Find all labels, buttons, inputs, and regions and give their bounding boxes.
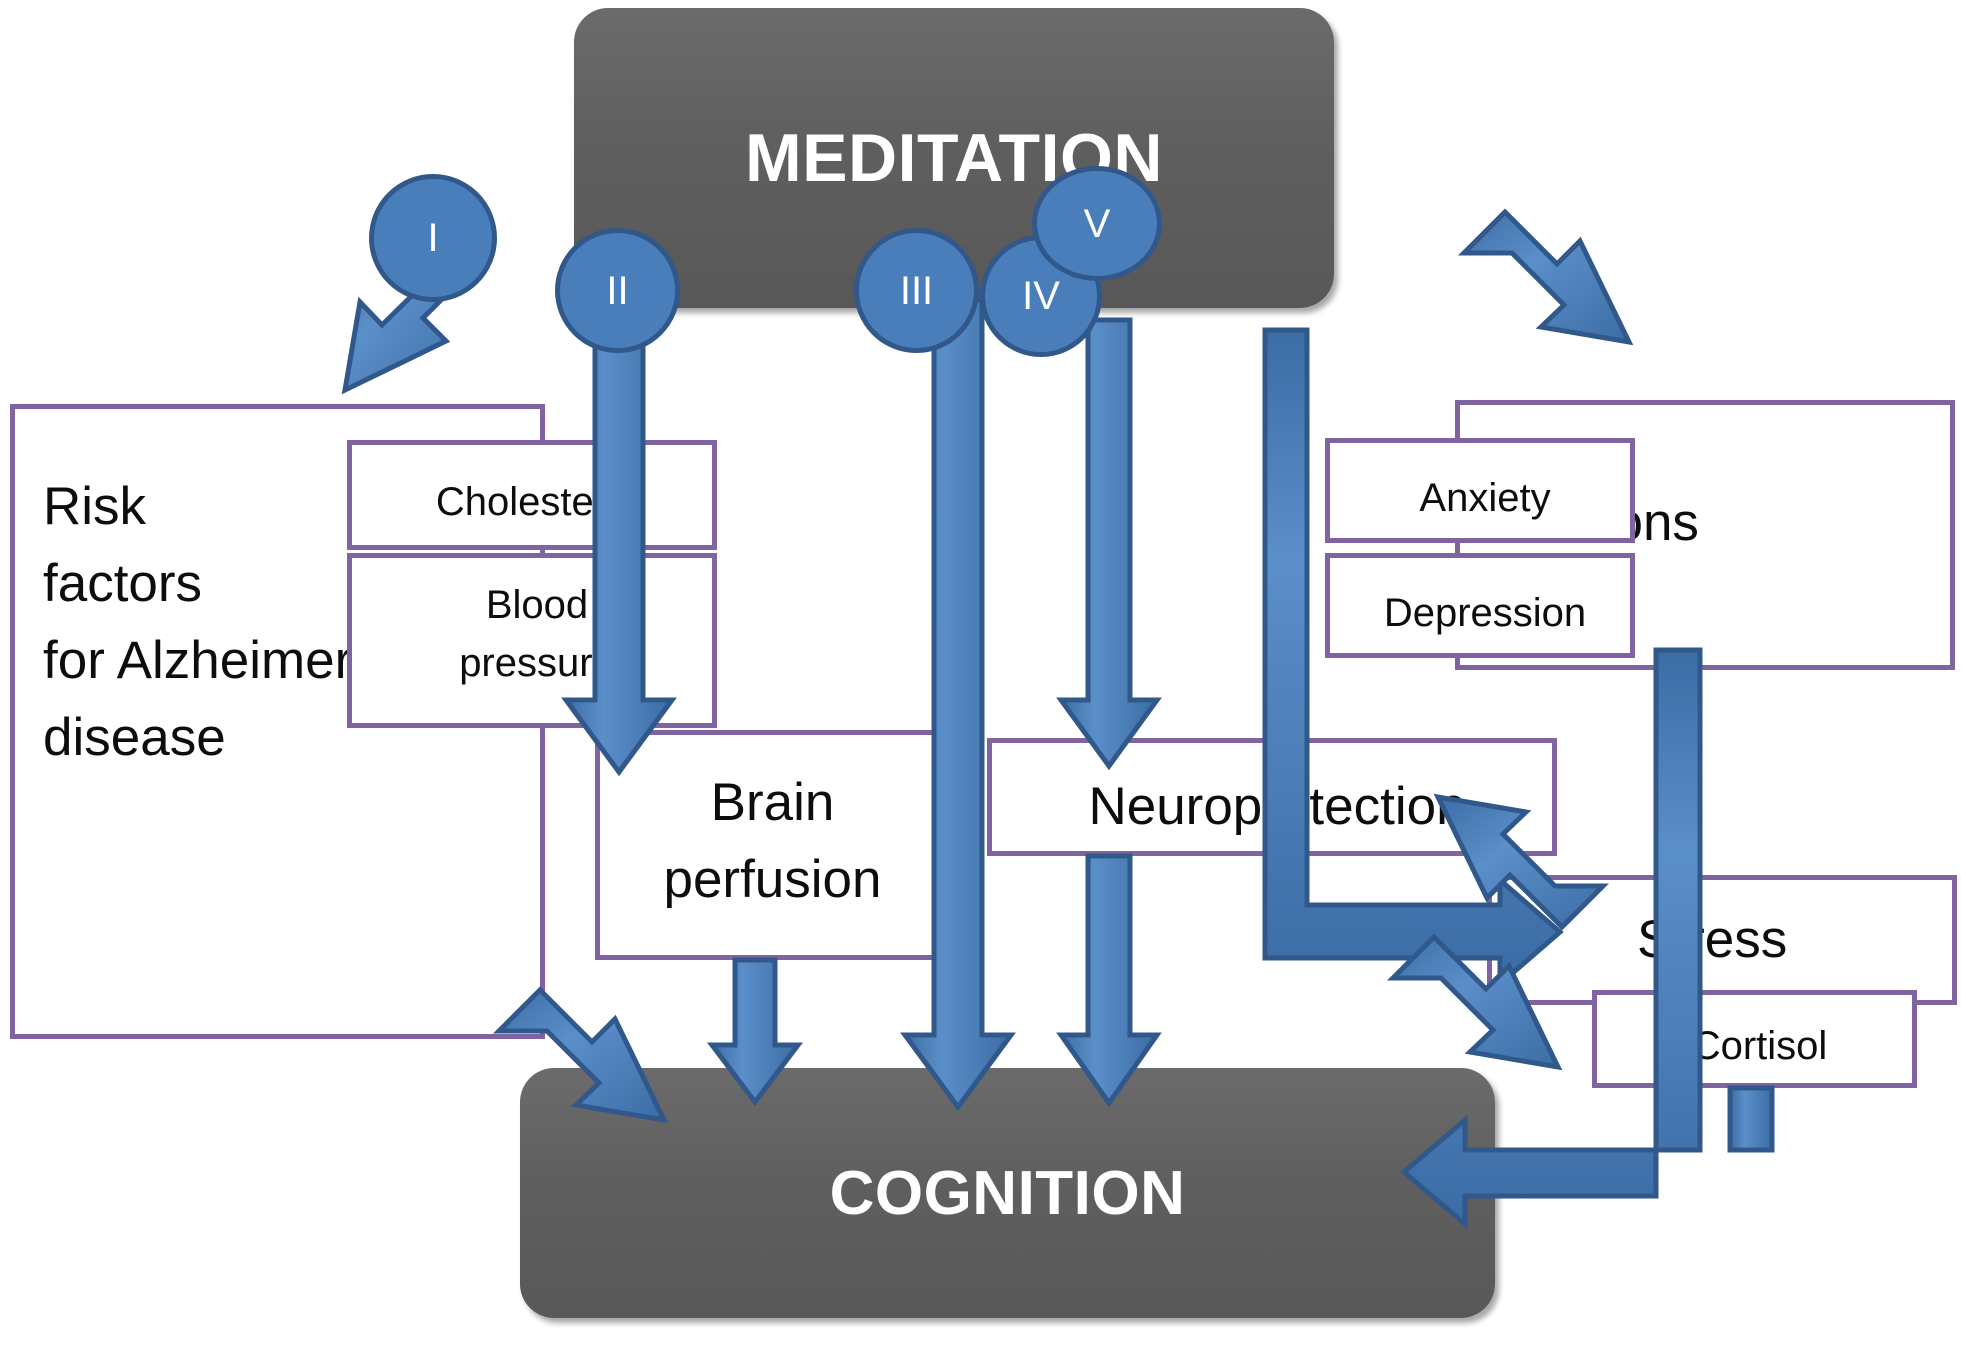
diagram-canvas: Risk factors for Alzheimer´s disease Cho… — [0, 0, 1961, 1349]
box-blood-pressure-label: Blood pressure — [352, 576, 722, 692]
box-cholesterol-label: Cholesterol — [352, 473, 722, 531]
box-brain-perfusion-label: Brain perfusion — [600, 765, 945, 919]
pathway-node-iii-label: III — [900, 271, 933, 311]
pathway-node-v[interactable]: V — [1032, 166, 1162, 281]
box-depression[interactable]: Depression — [1325, 553, 1635, 658]
arrow-cortisol-to-cognition — [1730, 1088, 1772, 1150]
arrow-meditation-to-cognition-center — [905, 300, 1011, 1107]
box-anxiety[interactable]: Anxiety — [1325, 438, 1635, 543]
arrow-node5-to-emotions — [1464, 212, 1629, 342]
box-cholesterol[interactable]: Cholesterol — [347, 440, 717, 550]
pathway-node-i-label: I — [427, 218, 438, 258]
hub-cognition-label: COGNITION — [830, 1158, 1186, 1229]
box-cortisol-label: Cortisol — [1597, 1017, 1922, 1075]
hub-cognition[interactable]: COGNITION — [520, 1068, 1495, 1318]
pathway-node-v-label: V — [1084, 204, 1111, 244]
pathway-node-i[interactable]: I — [369, 174, 497, 302]
box-depression-label: Depression — [1330, 584, 1640, 642]
pathway-node-iii[interactable]: III — [854, 228, 979, 353]
pathway-node-ii[interactable]: II — [555, 228, 680, 353]
box-cortisol[interactable]: Cortisol — [1592, 990, 1917, 1088]
box-neuroprotection-label: Neuroprotection — [992, 769, 1562, 846]
arrow-neuroprotection-to-cognition — [1061, 856, 1157, 1103]
arrow-node3-to-neuroprotection — [1061, 320, 1157, 766]
box-neuroprotection[interactable]: Neuroprotection — [987, 738, 1557, 856]
box-anxiety-label: Anxiety — [1330, 469, 1640, 527]
box-brain-perfusion[interactable]: Brain perfusion — [595, 730, 940, 960]
box-stress-label: Stress — [1637, 902, 1787, 979]
box-blood-pressure[interactable]: Blood pressure — [347, 553, 717, 728]
box-stress[interactable]: Stress — [1487, 875, 1957, 1005]
pathway-node-ii-label: II — [606, 271, 628, 311]
pathway-node-iv-label: IV — [1022, 276, 1060, 316]
